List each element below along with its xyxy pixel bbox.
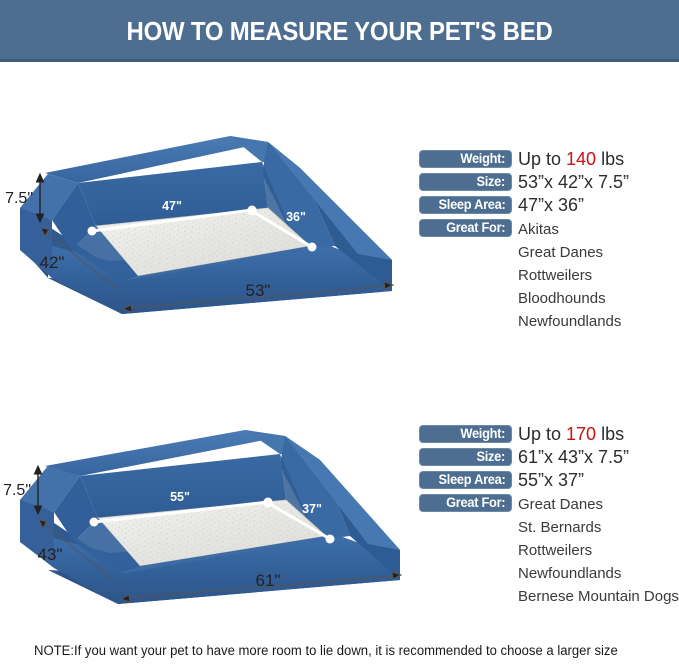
bed-diagram-large-svg: 47" 36" 7.5" 42" 53" [0, 128, 410, 318]
spec-label-size-pill: Size: [419, 448, 512, 466]
width-label-large: 53" [246, 281, 271, 300]
breed-item: Great Danes [518, 241, 603, 264]
sleep-length-label-xlarge: 55" [170, 490, 190, 504]
breed-item: Bloodhounds [518, 287, 606, 310]
spec-label-weight-pill: Weight: [419, 150, 512, 168]
spec-row-great-for: Great For: Akitas Great Danes Rottweiler… [419, 219, 679, 242]
breed-item: Bernese Mountain Dogs [518, 585, 679, 608]
weight-number: 170 [566, 424, 596, 444]
spec-value-weight: Up to 170 lbs [518, 423, 624, 446]
spec-row-sleep-area: Sleep Area: 55”x 37” [419, 471, 679, 494]
spec-label-size: Size: [476, 450, 505, 464]
spec-value-size: 61”x 43”x 7.5” [518, 446, 629, 469]
spec-label-great-for: Great For: [446, 221, 505, 235]
bed-illustration-large: 47" 36" 7.5" 42" 53" [0, 128, 410, 318]
sleep-length-label-large: 47" [162, 199, 182, 213]
spec-row-great-for: Great For: Great Danes St. Bernards Rott… [419, 494, 679, 517]
spec-row-size: Size: 53”x 42”x 7.5” [419, 173, 679, 196]
page-title: HOW TO MEASURE YOUR PET'S BED [126, 16, 552, 47]
breed-item: Newfoundlands [518, 562, 621, 585]
breed-item: Rottweilers [518, 264, 592, 287]
footer-note: NOTE:If you want your pet to have more r… [34, 643, 618, 658]
weight-suffix: lbs [596, 424, 624, 444]
weight-suffix: lbs [596, 149, 624, 169]
spec-label-size-pill: Size: [419, 173, 512, 191]
spec-label-weight-pill: Weight: [419, 425, 512, 443]
spec-label-sleep-area-pill: Sleep Area: [419, 471, 512, 489]
spec-value-weight: Up to 140 lbs [518, 148, 624, 171]
breed-item: St. Bernards [518, 516, 601, 539]
breed-item: Rottweilers [518, 539, 592, 562]
spec-table-xlarge: Weight: Up to 170 lbs Size: 61”x 43”x 7.… [419, 425, 679, 517]
spec-label-sleep-area: Sleep Area: [438, 473, 505, 487]
spec-label-weight: Weight: [460, 152, 505, 166]
spec-table-large: Weight: Up to 140 lbs Size: 53”x 42”x 7.… [419, 150, 679, 242]
spec-row-size: Size: 61”x 43”x 7.5” [419, 448, 679, 471]
breed-item: Akitas [518, 218, 559, 241]
spec-row-weight: Weight: Up to 170 lbs [419, 425, 679, 448]
spec-label-great-for-pill: Great For: [419, 219, 512, 237]
weight-prefix: Up to [518, 424, 566, 444]
depth-label-large: 42" [40, 253, 65, 272]
spec-label-weight: Weight: [460, 427, 505, 441]
spec-row-weight: Weight: Up to 140 lbs [419, 150, 679, 173]
breed-item: Great Danes [518, 493, 603, 516]
height-label-large: 7.5" [5, 190, 33, 207]
spec-row-sleep-area: Sleep Area: 47”x 36” [419, 196, 679, 219]
spec-label-size: Size: [476, 175, 505, 189]
bed-illustration-xlarge: 55" 37" 7.5" 43" 61" [0, 408, 420, 608]
sleep-width-label-large: 36" [286, 210, 306, 224]
spec-value-sleep-area: 55”x 37” [518, 469, 584, 492]
weight-number: 140 [566, 149, 596, 169]
width-label-xlarge: 61" [256, 571, 281, 590]
breed-item: Newfoundlands [518, 310, 621, 333]
page-header: HOW TO MEASURE YOUR PET'S BED [0, 0, 679, 62]
height-label-xlarge: 7.5" [3, 482, 31, 499]
spec-value-size: 53”x 42”x 7.5” [518, 171, 629, 194]
spec-label-sleep-area-pill: Sleep Area: [419, 196, 512, 214]
bed-diagram-xlarge-svg: 55" 37" 7.5" 43" 61" [0, 408, 420, 608]
spec-label-great-for: Great For: [446, 496, 505, 510]
spec-label-sleep-area: Sleep Area: [438, 198, 505, 212]
depth-label-xlarge: 43" [38, 545, 63, 564]
weight-prefix: Up to [518, 149, 566, 169]
spec-label-great-for-pill: Great For: [419, 494, 512, 512]
sleep-width-label-xlarge: 37" [302, 502, 322, 516]
spec-value-sleep-area: 47”x 36” [518, 194, 584, 217]
